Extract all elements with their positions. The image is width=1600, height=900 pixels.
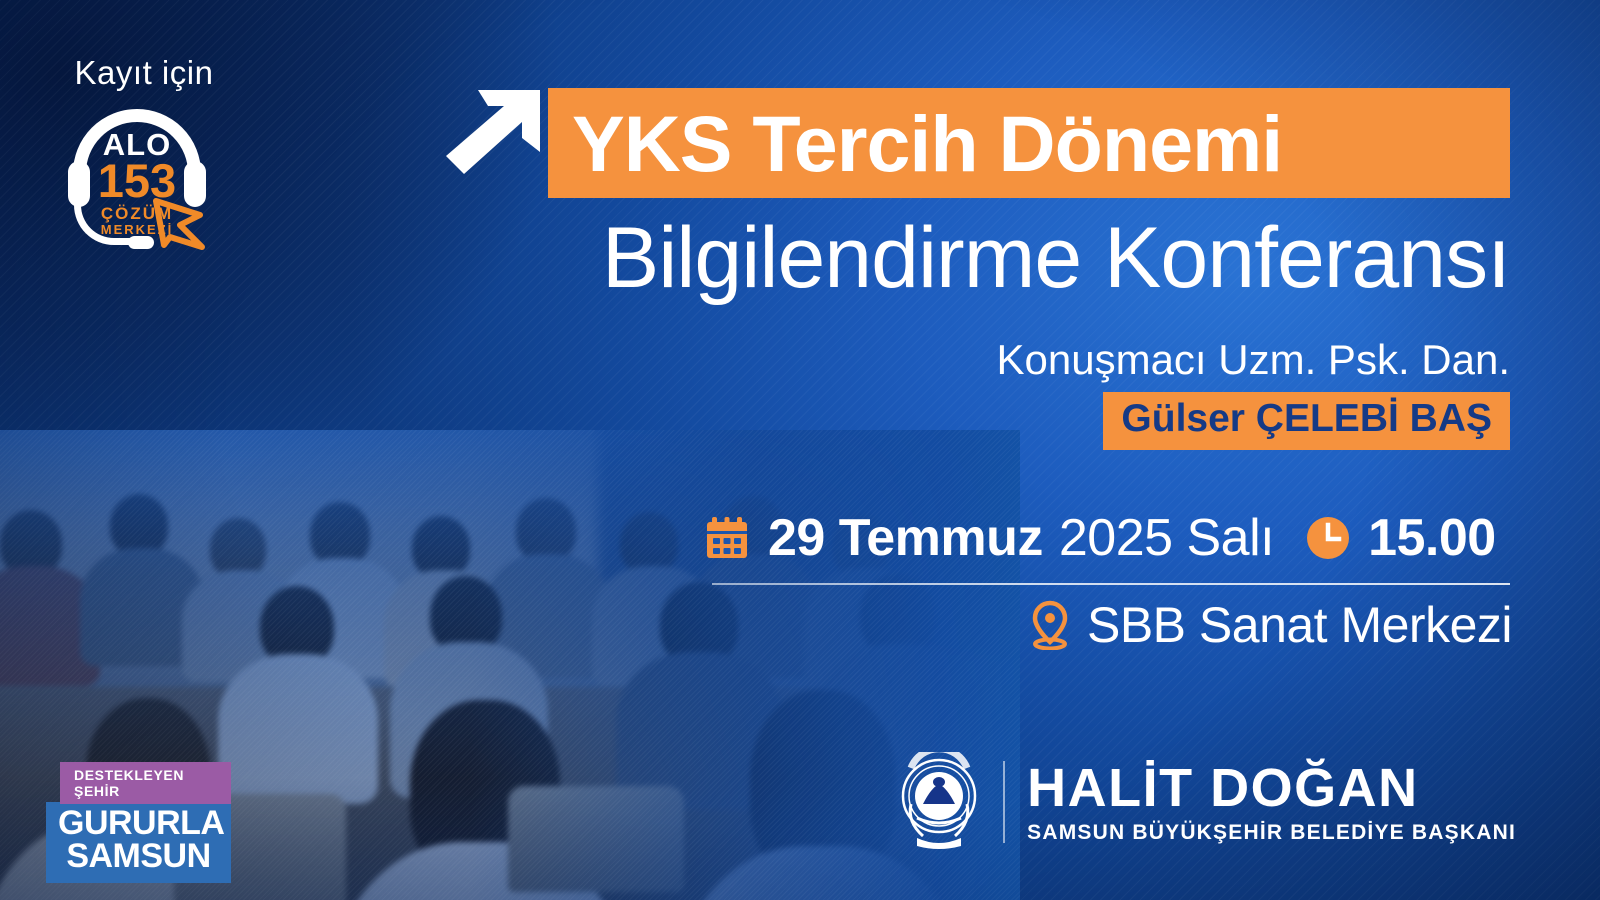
alo153-text: ALO 153 ÇÖZÜM MERKEZİ — [62, 129, 212, 236]
venue-row: SBB Sanat Merkezi — [1029, 600, 1512, 650]
alo-subline-2: MERKEZİ — [62, 223, 212, 236]
title-line-1: YKS Tercih Dönemi — [572, 104, 1282, 183]
speaker-name: Gülser ÇELEBİ BAŞ — [1121, 397, 1492, 440]
calendar-icon — [704, 515, 750, 561]
title-banner: YKS Tercih Dönemi — [548, 88, 1510, 198]
clock-icon — [1306, 516, 1350, 560]
registration-block: Kayıt için ALO 153 ÇÖZÜM MERKEZİ — [42, 56, 242, 255]
date-time-row: 29 Temmuz 2025 Salı 15.00 — [704, 512, 1496, 564]
mayor-signature: HALİT DOĞAN SAMSUN BÜYÜKŞEHİR BELEDİYE B… — [893, 752, 1516, 852]
event-poster: Kayıt için ALO 153 ÇÖZÜM MERKEZİ YKS Ter… — [0, 0, 1600, 900]
supporter-badge-line-1: GURURLA — [58, 807, 219, 840]
event-time: 15.00 — [1368, 512, 1496, 564]
supporter-badge: DESTEKLEYEN ŞEHİR GURURLA SAMSUN — [46, 762, 231, 883]
section-divider — [712, 583, 1510, 585]
supporter-badge-line-2: SAMSUN — [58, 840, 219, 873]
arrow-up-right-icon — [444, 78, 552, 186]
location-pin-icon — [1029, 600, 1071, 650]
signature-divider — [1003, 761, 1005, 843]
mayor-role: SAMSUN BÜYÜKŞEHİR BELEDİYE BAŞKANI — [1027, 822, 1516, 843]
alo-subline-1: ÇÖZÜM — [62, 205, 212, 222]
supporter-badge-kicker: DESTEKLEYEN ŞEHİR — [60, 762, 231, 804]
event-date-light: 2025 Salı — [1059, 512, 1274, 564]
supporter-badge-main: GURURLA SAMSUN — [46, 802, 231, 883]
speaker-role: Konuşmacı Uzm. Psk. Dan. — [997, 336, 1511, 384]
samsun-municipality-emblem-icon — [893, 752, 985, 852]
speaker-name-highlight: Gülser ÇELEBİ BAŞ — [1103, 392, 1510, 450]
mayor-text-block: HALİT DOĞAN SAMSUN BÜYÜKŞEHİR BELEDİYE B… — [1027, 761, 1516, 843]
event-venue: SBB Sanat Merkezi — [1087, 600, 1512, 650]
registration-prompt: Kayıt için — [46, 56, 242, 89]
alo153-logo: ALO 153 ÇÖZÜM MERKEZİ — [62, 105, 212, 255]
mayor-name: HALİT DOĞAN — [1027, 761, 1516, 815]
event-date-bold: 29 Temmuz — [768, 512, 1043, 564]
title-line-2: Bilgilendirme Konferansı — [360, 212, 1510, 305]
alo-number: 153 — [62, 157, 212, 204]
